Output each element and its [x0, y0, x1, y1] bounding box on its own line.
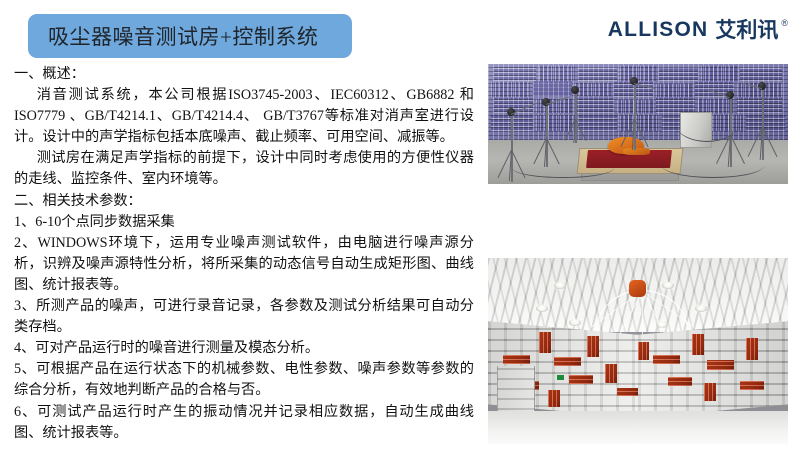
microphone-stand	[566, 90, 584, 143]
acoustic-wedge-wall-right	[638, 321, 788, 418]
anechoic-chamber-interior-photo	[488, 258, 788, 444]
exit-sign-icon	[557, 375, 564, 380]
parameter-item-6: 6、可测试产品运行时产生的振动情况并记录相应数据，自动生成曲线图、统计报表等。	[14, 402, 474, 444]
signal-cable	[674, 100, 740, 142]
signal-cable	[512, 158, 614, 178]
brand-name-en: ALLISON	[608, 18, 709, 42]
anechoic-chamber-vacuum-test-setup-photo	[488, 64, 788, 184]
brand-logo: ALLISON 艾利讯 ®	[608, 18, 788, 44]
chamber-floor	[488, 411, 788, 444]
brand-name-cn: 艾利讯	[715, 18, 778, 42]
slide-body: 一、概述： 消音测试系统，本公司根据ISO3745-2003、IEC60312、…	[14, 64, 474, 444]
ceiling-light-icon	[695, 305, 707, 312]
ceiling-light-icon	[536, 305, 548, 312]
parameter-item-4: 4、可对产品运行时的噪音进行测量及模态分析。	[14, 338, 474, 359]
slide-title-box: 吸尘器噪音测试房+控制系统	[28, 14, 352, 58]
overview-paragraph-2: 测试房在满足声学指标的前提下，设计中同时考虑使用的方便性仪器的走线、监控条件、室…	[14, 148, 474, 190]
section-heading-parameters: 二、相关技术参数：	[14, 191, 474, 212]
slide-root: 吸尘器噪音测试房+控制系统 ALLISON 艾利讯 ® 一、概述： 消音测试系统…	[0, 0, 800, 450]
parameter-item-5: 5、可根据产品在运行状态下的机械参数、电性参数、噪声参数等参数的综合分析，有效地…	[14, 359, 474, 401]
registered-trademark-icon: ®	[781, 18, 788, 28]
parameter-item-2: 2、WINDOWS环境下，运用专业噪声测试软件，由电脑进行噪声源分析，识辨及噪声…	[14, 233, 474, 296]
microphone-stand	[623, 81, 645, 151]
microphone-icon	[571, 86, 579, 94]
page-title: 吸尘器噪音测试房+控制系统	[28, 21, 318, 51]
section-heading-overview: 一、概述：	[14, 64, 474, 85]
microphone-stand	[752, 86, 772, 160]
signal-cable	[662, 153, 764, 178]
parameter-item-1: 1、6-10个点同步数据采集	[14, 212, 474, 233]
parameter-item-3: 3、所测产品的噪声，可进行录音记录，各参数及测试分析结果可自动分类存档。	[14, 296, 474, 338]
array-mount-hub	[629, 280, 646, 297]
overview-paragraph-1: 消音测试系统，本公司根据ISO3745-2003、IEC60312、GB6882…	[14, 85, 474, 148]
